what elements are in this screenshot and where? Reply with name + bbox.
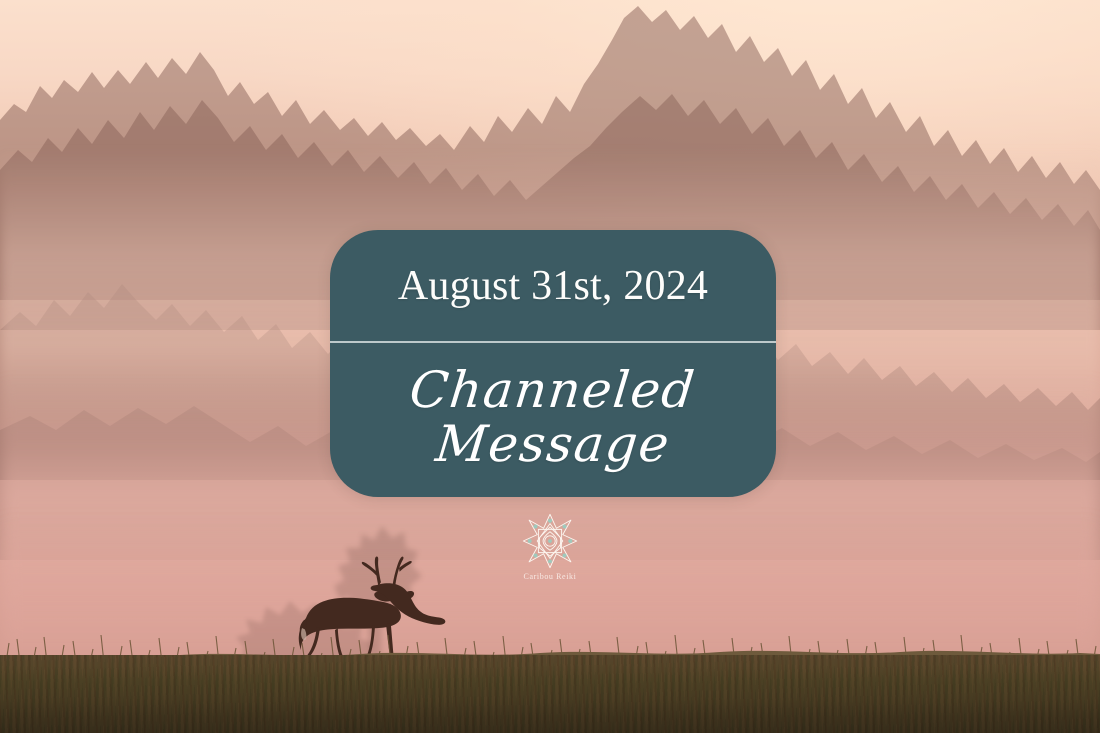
- card-date-text: August 31st, 2024: [398, 262, 708, 310]
- grass-texture: [0, 655, 1100, 733]
- brand-logo: Caribou Reiki: [506, 512, 594, 588]
- card-title-block: Channeled Message: [330, 343, 776, 497]
- card-date-row: August 31st, 2024: [330, 230, 776, 341]
- brand-name: Caribou Reiki: [506, 572, 594, 581]
- eight-pointed-star-mandala-icon: [517, 512, 583, 570]
- card-title-line-1: Channeled: [408, 366, 698, 414]
- message-card: August 31st, 2024 Channeled Message: [330, 230, 776, 497]
- poster-canvas: August 31st, 2024 Channeled Message: [0, 0, 1100, 733]
- card-title-line-2: Message: [433, 420, 672, 468]
- grass-ground: [0, 655, 1100, 733]
